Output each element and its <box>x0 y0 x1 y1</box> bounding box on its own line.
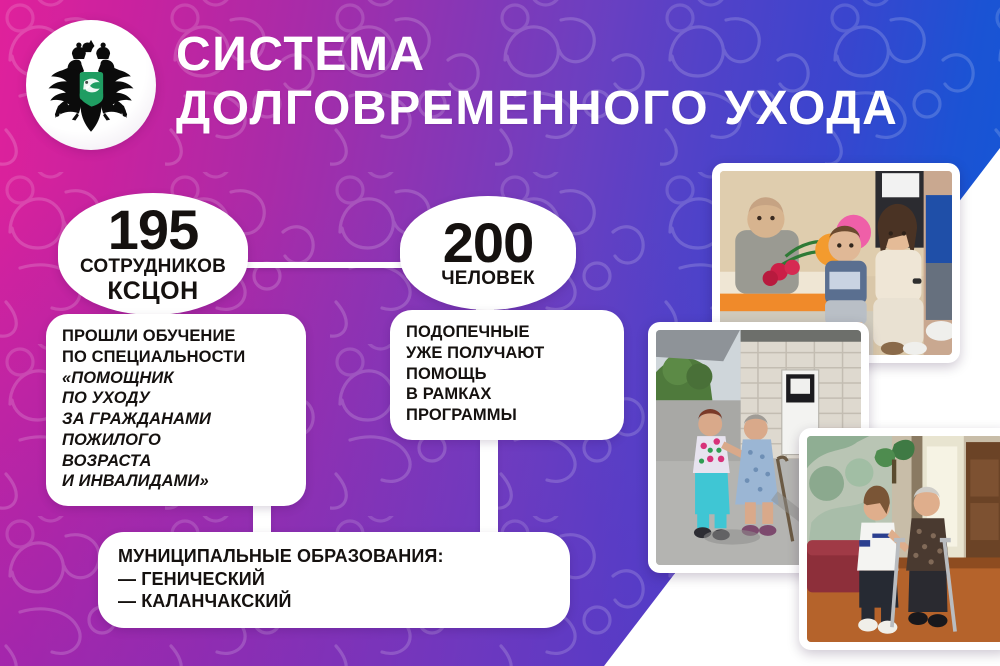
stat-caption-200: ЧЕЛОВЕК <box>441 269 535 290</box>
infographic-poster: СИСТЕМА ДОЛГОВРЕМЕННОГО УХОДА 195 СОТРУД… <box>0 0 1000 666</box>
text-line: ПРОШЛИ ОБУЧЕНИЕ <box>62 326 290 347</box>
connector-between-stats <box>232 262 414 268</box>
text-line: ПО СПЕЦИАЛЬНОСТИ <box>62 347 290 368</box>
stat-number-195: 195 <box>108 203 198 257</box>
title-line-2: ДОЛГОВРЕМЕННОГО УХОДА <box>176 82 966 136</box>
stat-caption-200-line1: ЧЕЛОВЕК <box>441 268 535 289</box>
photo-card-indoor-crutch-assist <box>799 428 1000 650</box>
municipalities-heading: МУНИЦИПАЛЬНЫЕ ОБРАЗОВАНИЯ: <box>118 545 550 568</box>
title-line-1: СИСТЕМА <box>176 28 966 82</box>
municipality-item: — КАЛАНЧАКСКИЙ <box>118 590 550 613</box>
municipality-item: — ГЕНИЧЕСКИЙ <box>118 568 550 591</box>
stat-caption-195-line1: СОТРУДНИКОВ <box>80 256 226 277</box>
stat-number-200: 200 <box>443 216 533 270</box>
stat-caption-195: СОТРУДНИКОВ КСЦОН <box>80 257 226 305</box>
text-line: ЗА ГРАЖДАНАМИ <box>62 409 290 430</box>
text-line: И ИНВАЛИДАМИ» <box>62 471 290 492</box>
text-line: ПРОГРАММЫ <box>406 405 608 426</box>
text-line: В РАМКАХ <box>406 384 608 405</box>
text-line: ПОМОЩЬ <box>406 364 608 385</box>
text-line: ПОДОПЕЧНЫЕ <box>406 322 608 343</box>
text-bubble-200: ПОДОПЕЧНЫЕ УЖЕ ПОЛУЧАЮТ ПОМОЩЬ В РАМКАХ … <box>390 310 624 440</box>
stat-bubble-200: 200 ЧЕЛОВЕК <box>400 196 576 310</box>
connector-stem-municipalities-right <box>480 440 498 544</box>
text-line: ПО УХОДУ <box>62 388 290 409</box>
stat-bubble-195: 195 СОТРУДНИКОВ КСЦОН <box>58 193 248 315</box>
coat-of-arms-emblem <box>26 20 156 150</box>
text-line: ВОЗРАСТА <box>62 451 290 472</box>
text-line: «ПОМОЩНИК <box>62 368 290 389</box>
stat-caption-195-line2: КСЦОН <box>80 278 226 306</box>
text-line: ПОЖИЛОГО <box>62 430 290 451</box>
text-bubble-municipalities: МУНИЦИПАЛЬНЫЕ ОБРАЗОВАНИЯ: — ГЕНИЧЕСКИЙ … <box>98 532 570 628</box>
text-bubble-195: ПРОШЛИ ОБУЧЕНИЕ ПО СПЕЦИАЛЬНОСТИ «ПОМОЩН… <box>46 314 306 506</box>
page-title: СИСТЕМА ДОЛГОВРЕМЕННОГО УХОДА <box>176 28 966 136</box>
text-line: УЖЕ ПОЛУЧАЮТ <box>406 343 608 364</box>
photo-image-indoor-crutch-assist <box>807 436 1000 642</box>
